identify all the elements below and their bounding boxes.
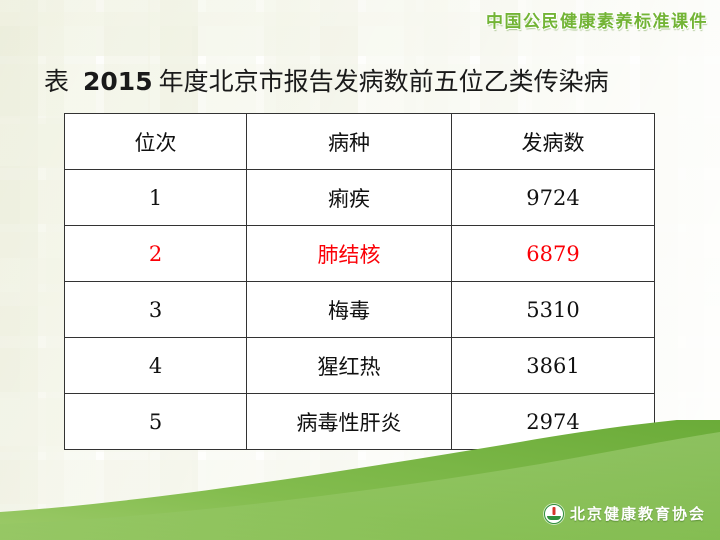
table-cell-cases: 5310: [452, 282, 655, 338]
table-header-row: 位次 病种 发病数: [65, 114, 655, 170]
slide-canvas: 中国公民健康素养标准课件 表2015年度北京市报告发病数前五位乙类传染病 位次 …: [0, 0, 720, 540]
title-prefix: 表: [44, 67, 69, 96]
association-emblem-icon: [544, 504, 564, 524]
title-year: 2015: [83, 67, 153, 96]
table-cell-disease: 痢疾: [247, 170, 452, 226]
column-header-cases: 发病数: [452, 114, 655, 170]
table-cell-disease: 肺结核: [247, 226, 452, 282]
table-cell-cases: 6879: [452, 226, 655, 282]
table-cell-cases: 9724: [452, 170, 655, 226]
table-cell-rank: 3: [65, 282, 247, 338]
table-row: 4猩红热3861: [65, 338, 655, 394]
table-cell-cases: 2974: [452, 394, 655, 450]
table-cell-cases: 3861: [452, 338, 655, 394]
title-rest: 年度北京市报告发病数前五位乙类传染病: [159, 67, 609, 96]
course-header-title: 中国公民健康素养标准课件: [486, 7, 708, 32]
footer-brand-label: 北京健康教育协会: [570, 503, 706, 524]
table-row: 5病毒性肝炎2974: [65, 394, 655, 450]
table-cell-rank: 5: [65, 394, 247, 450]
page-title: 表2015年度北京市报告发病数前五位乙类传染病: [44, 62, 609, 98]
table-cell-rank: 1: [65, 170, 247, 226]
column-header-disease: 病种: [247, 114, 452, 170]
table-row: 1痢疾9724: [65, 170, 655, 226]
table-cell-disease: 病毒性肝炎: [247, 394, 452, 450]
footer-brand: 北京健康教育协会: [544, 503, 706, 524]
table-cell-disease: 梅毒: [247, 282, 452, 338]
table-cell-rank: 4: [65, 338, 247, 394]
table-row: 2肺结核6879: [65, 226, 655, 282]
column-header-rank: 位次: [65, 114, 247, 170]
table-cell-rank: 2: [65, 226, 247, 282]
table-row: 3梅毒5310: [65, 282, 655, 338]
table-cell-disease: 猩红热: [247, 338, 452, 394]
disease-statistics-table: 位次 病种 发病数 1痢疾97242肺结核68793梅毒53104猩红热3861…: [64, 113, 655, 450]
